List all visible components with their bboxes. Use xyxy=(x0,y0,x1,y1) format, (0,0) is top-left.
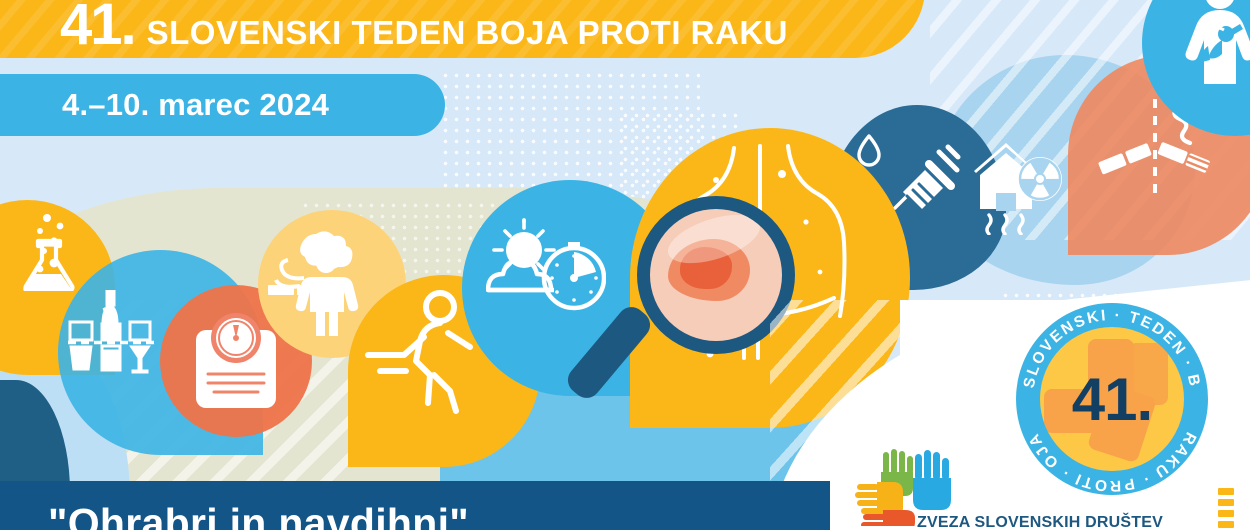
organization-name: ZVEZA SLOVENSKIH DRUŠTEV xyxy=(917,514,1163,530)
footer-slogan: "Ohrabri in navdihni" xyxy=(48,500,808,530)
flask-icon xyxy=(14,213,80,291)
magnifier-lens xyxy=(650,209,782,341)
house-radiation-icon xyxy=(972,135,1072,235)
breastfeeding-icon xyxy=(1178,0,1250,88)
organization-logo: ZVEZA SLOVENSKIH DRUŠTEV xyxy=(855,448,1185,530)
sun-stopwatch-icon xyxy=(486,218,606,324)
footer-accent-marks xyxy=(1218,488,1234,530)
alcohol-bottles-icon xyxy=(68,290,154,380)
page-title: 41. SLOVENSKI TEDEN BOJA PROTI RAKU xyxy=(60,0,788,58)
date-badge: 4.–10. marec 2024 xyxy=(0,74,445,136)
title-text: SLOVENSKI TEDEN BOJA PROTI RAKU xyxy=(147,16,788,49)
edition-number: 41. xyxy=(60,0,135,54)
passive-smoking-icon xyxy=(268,228,372,336)
campaign-poster: 41. SLOVENSKI TEDEN BOJA PROTI RAKU 4.–1… xyxy=(0,0,1250,530)
date-range-text: 4.–10. marec 2024 xyxy=(62,87,329,123)
